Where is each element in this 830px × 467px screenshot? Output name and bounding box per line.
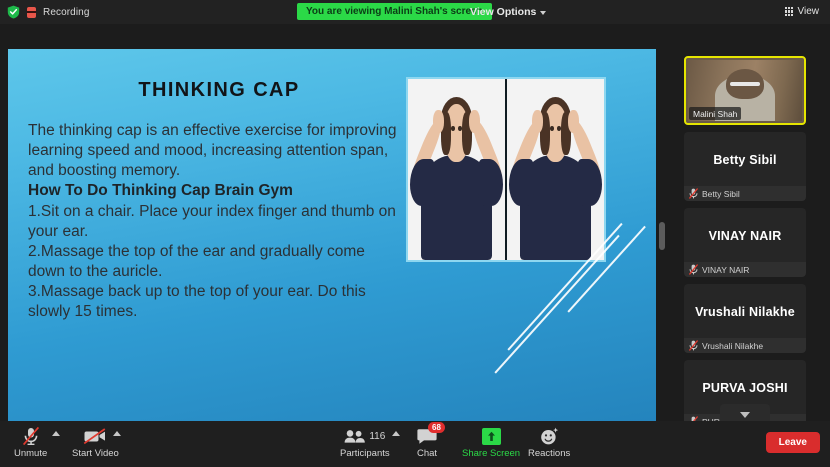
shared-screen-scrollbar[interactable]	[659, 222, 665, 250]
recording-label: Recording	[43, 7, 89, 18]
slide-step-2: 2.Massage the top of the ear and gradual…	[28, 242, 406, 282]
participant-tile-malini-shah[interactable]: Malini Shah	[684, 56, 806, 125]
view-button-label: View	[798, 6, 820, 17]
slide-subheading: How To Do Thinking Cap Brain Gym	[28, 181, 406, 201]
reactions-button[interactable]: Reactions	[528, 426, 570, 459]
unmute-button[interactable]: Unmute	[14, 426, 47, 459]
share-screen-button[interactable]: Share Screen	[462, 426, 520, 459]
slide-step-3: 3.Massage back up to the top of your ear…	[28, 282, 406, 322]
slide-step-1: 1.Sit on a chair. Place your index finge…	[28, 202, 406, 242]
reactions-label: Reactions	[528, 448, 570, 459]
participant-footer-name: Vrushali Nilakhe	[702, 341, 763, 351]
chat-button[interactable]: 68 Chat	[417, 426, 437, 459]
participant-footer: VINAY NAIR	[684, 262, 806, 277]
exercise-demo-photos	[406, 77, 606, 262]
chat-bubble-icon: 68	[417, 426, 437, 446]
microphone-muted-icon	[22, 426, 40, 446]
microphone-muted-icon	[689, 340, 698, 351]
view-options-button[interactable]: View Options	[462, 2, 554, 21]
audio-options-arrow-icon[interactable]	[52, 431, 60, 436]
slide-body: The thinking cap is an effective exercis…	[28, 121, 406, 322]
participant-name-overlay: Malini Shah	[689, 107, 741, 120]
microphone-muted-icon	[689, 264, 698, 275]
recording-icon	[27, 7, 36, 18]
participants-button[interactable]: 116 Participants	[340, 426, 390, 459]
exercise-photo-left	[408, 79, 505, 260]
leave-button[interactable]: Leave	[766, 432, 820, 453]
camera-off-icon	[83, 426, 107, 446]
slide-paragraph: The thinking cap is an effective exercis…	[28, 121, 406, 181]
unmute-label: Unmute	[14, 448, 47, 459]
participant-footer-name: Betty Sibil	[702, 189, 740, 199]
participants-options-arrow-icon[interactable]	[392, 431, 400, 436]
participant-tile-vinay-nair[interactable]: VINAY NAIR VINAY NAIR	[684, 208, 806, 277]
chat-unread-badge: 68	[428, 422, 445, 433]
chat-label: Chat	[417, 448, 437, 459]
shield-check-icon[interactable]	[7, 5, 20, 19]
participant-strip: Malini Shah Betty Sibil Betty Sibil VINA…	[684, 56, 806, 429]
start-video-label: Start Video	[72, 448, 119, 459]
grid-icon	[785, 7, 794, 16]
view-options-label: View Options	[470, 6, 536, 18]
participants-count: 116	[369, 431, 385, 442]
recording-status-group: Recording	[7, 5, 89, 19]
smiley-reaction-icon	[540, 426, 559, 446]
participant-tile-betty-sibil[interactable]: Betty Sibil Betty Sibil	[684, 132, 806, 201]
participants-label: Participants	[340, 448, 390, 459]
participant-footer-name: VINAY NAIR	[702, 265, 749, 275]
people-icon: 116	[344, 426, 385, 446]
zoom-meeting-window: Recording You are viewing Malini Shah's …	[0, 0, 830, 467]
chevron-down-icon	[740, 412, 750, 418]
video-options-arrow-icon[interactable]	[113, 431, 121, 436]
meeting-toolbar: Unmute Start Video 1	[0, 421, 830, 467]
participant-tile-vrushali-nilakhe[interactable]: Vrushali Nilakhe Vrushali Nilakhe	[684, 284, 806, 353]
share-screen-icon	[482, 426, 501, 446]
share-screen-label: Share Screen	[462, 448, 520, 459]
top-bar: Recording You are viewing Malini Shah's …	[0, 0, 830, 24]
participant-footer: Vrushali Nilakhe	[684, 338, 806, 353]
microphone-muted-icon	[689, 188, 698, 199]
shared-screen-slide[interactable]: THINKING CAP The thinking cap is an effe…	[8, 49, 656, 421]
chevron-down-icon	[540, 11, 546, 15]
view-layout-button[interactable]: View	[780, 4, 825, 19]
start-video-button[interactable]: Start Video	[72, 426, 119, 459]
participant-footer: Betty Sibil	[684, 186, 806, 201]
exercise-photo-right	[505, 79, 604, 260]
